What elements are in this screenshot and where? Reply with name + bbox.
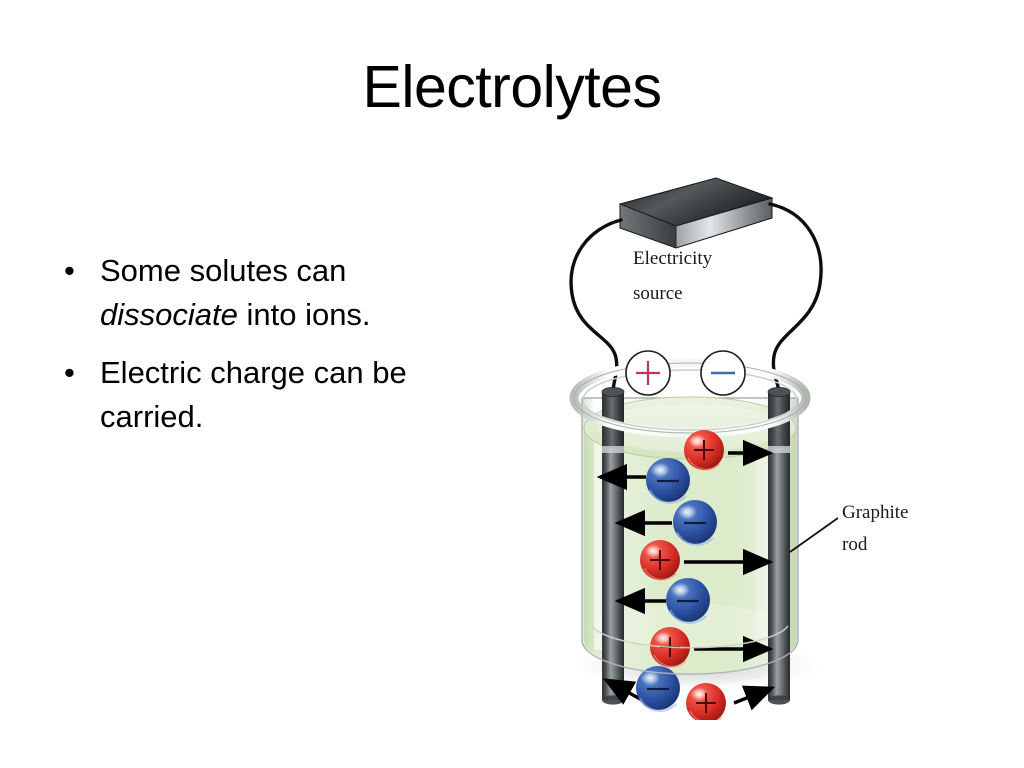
cation-ion: [640, 540, 680, 580]
page-title: Electrolytes: [0, 56, 1024, 120]
cation-ion: [684, 430, 724, 470]
bullet-list: • Some solutes can dissociate into ions.…: [60, 249, 480, 453]
electricity-source: [620, 178, 772, 248]
graphite-label-line2: rod: [842, 534, 868, 555]
anode-rod-cap: [602, 387, 624, 396]
cathode-rod-waterline: [768, 446, 790, 453]
bullet-marker: •: [60, 249, 100, 293]
anode-rod-waterline: [602, 446, 624, 453]
bullet-segment-text-2: into ions.: [238, 297, 371, 332]
anode-rod-foot: [602, 695, 624, 704]
bullet-text: Electric charge can be carried.: [100, 351, 480, 439]
graphite-label-line1: Graphite: [842, 502, 908, 523]
source-label-line2: source: [633, 283, 683, 304]
source-label-line1: Electricity: [633, 248, 713, 269]
negative-terminal[interactable]: [701, 351, 745, 395]
list-item: • Some solutes can dissociate into ions.: [60, 249, 480, 337]
cathode-rod-cap: [768, 387, 790, 396]
bullet-segment-emphasis: dissociate: [100, 297, 238, 332]
bullet-text: Some solutes can dissociate into ions.: [100, 249, 480, 337]
cathode-graphite-rod: [768, 387, 790, 704]
slide-canvas: Electrolytes • Some solutes can dissocia…: [0, 0, 1024, 768]
positive-terminal[interactable]: [626, 351, 670, 395]
list-item: • Electric charge can be carried.: [60, 351, 480, 439]
cathode-rod-foot: [768, 695, 790, 704]
wire-negative: [770, 204, 821, 396]
anode-graphite-rod: [602, 387, 624, 704]
solution-highlight-left: [594, 428, 603, 650]
electrolysis-diagram: Electricity source: [520, 160, 1020, 720]
bullet-segment-text: Some solutes can: [100, 253, 346, 288]
bullet-marker: •: [60, 351, 100, 395]
